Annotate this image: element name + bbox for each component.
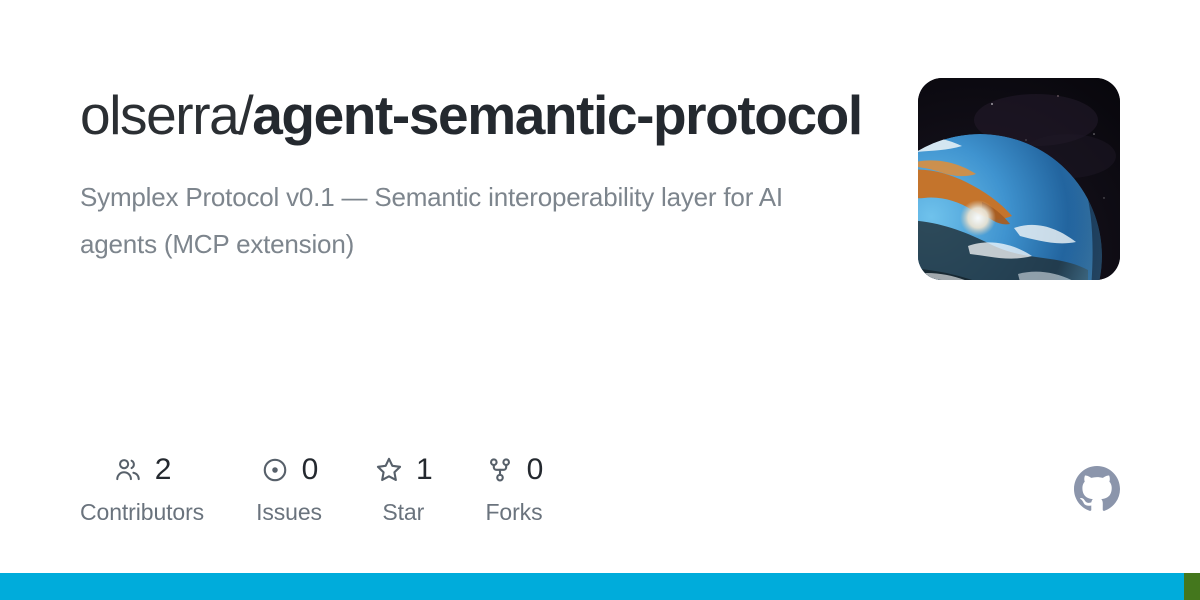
stat-issues-label: Issues bbox=[256, 501, 322, 524]
stat-star-top: 1 bbox=[374, 450, 433, 490]
stat-contributors: 2 Contributors bbox=[80, 450, 204, 524]
repository-header-text: olserra/agent-semantic-protocol Symplex … bbox=[80, 78, 870, 267]
star-icon bbox=[374, 455, 404, 485]
repository-owner[interactable]: olserra bbox=[80, 84, 238, 146]
repository-name[interactable]: agent-semantic-protocol bbox=[252, 84, 862, 146]
bottom-bar bbox=[0, 573, 1200, 600]
repo-forked-icon bbox=[485, 455, 515, 485]
stat-star-label: Star bbox=[382, 501, 424, 524]
people-icon bbox=[113, 455, 143, 485]
repository-name-separator: / bbox=[238, 84, 252, 146]
stat-contributors-top: 2 bbox=[113, 450, 172, 490]
stat-issues-value: 0 bbox=[302, 455, 319, 485]
page-title: olserra/agent-semantic-protocol bbox=[80, 80, 870, 150]
repository-header: olserra/agent-semantic-protocol Symplex … bbox=[80, 78, 1120, 280]
stat-issues: 0 Issues bbox=[256, 450, 322, 524]
github-icon bbox=[1074, 466, 1120, 512]
repository-social-preview-card: olserra/agent-semantic-protocol Symplex … bbox=[0, 0, 1200, 600]
stat-star: 1 Star bbox=[374, 450, 433, 524]
bottom-bar-accent-segment bbox=[1184, 573, 1200, 600]
stat-forks-top: 0 bbox=[485, 450, 544, 490]
stat-star-value: 1 bbox=[416, 455, 433, 485]
repository-description: Symplex Protocol v0.1 — Semantic interop… bbox=[80, 174, 850, 267]
issue-opened-icon bbox=[260, 455, 290, 485]
bottom-bar-primary-segment bbox=[0, 573, 1184, 600]
stat-contributors-label: Contributors bbox=[80, 501, 204, 524]
stat-forks: 0 Forks bbox=[485, 450, 544, 524]
avatar bbox=[918, 78, 1120, 280]
stat-forks-label: Forks bbox=[485, 501, 542, 524]
stat-contributors-value: 2 bbox=[155, 455, 172, 485]
repository-stats: 2 Contributors 0 Issues bbox=[80, 450, 780, 524]
stat-forks-value: 0 bbox=[527, 455, 544, 485]
stat-issues-top: 0 bbox=[260, 450, 319, 490]
